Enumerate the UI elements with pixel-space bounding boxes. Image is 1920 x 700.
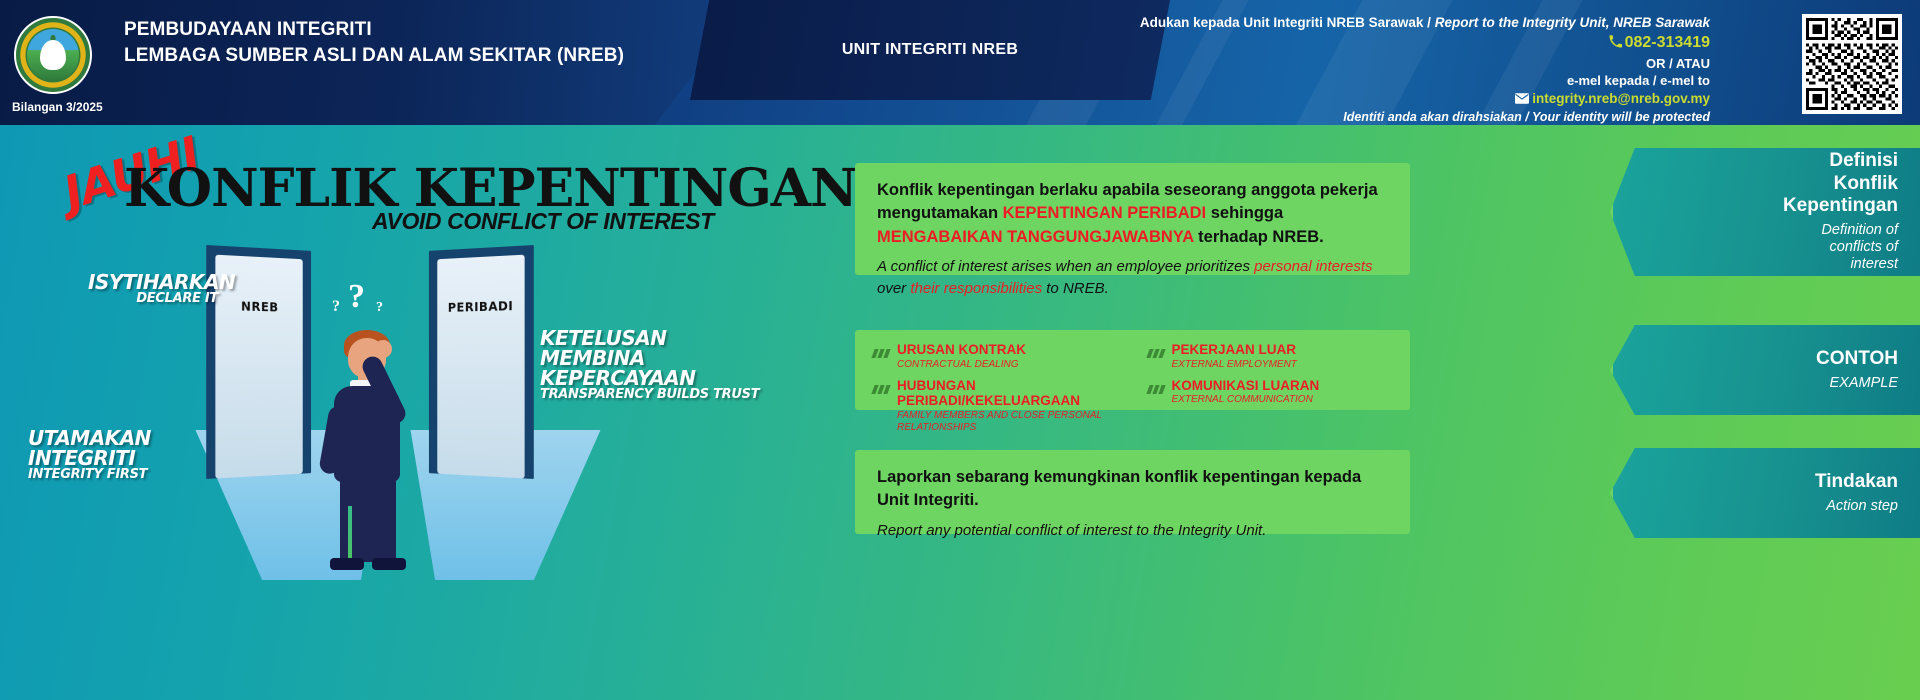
tab-contoh-en: EXAMPLE: [1830, 375, 1899, 392]
definition-en-part2: over: [877, 280, 910, 297]
definition-en-part1: A conflict of interest arises when an em…: [877, 258, 1254, 275]
qr-code[interactable]: [1802, 14, 1902, 114]
nreb-crest-logo: [14, 16, 92, 94]
caption-declare-my: ISYTIHARKAN: [88, 272, 218, 292]
caption-trust: KETELUSAN MEMBINA KEPERCAYAAN TRANSPAREN…: [540, 328, 770, 401]
slash-marks-icon: [1148, 381, 1166, 399]
example-item[interactable]: URUSAN KONTRAK CONTRACTUAL DEALING: [873, 342, 1118, 371]
slash-marks-icon: [873, 345, 891, 363]
example-item[interactable]: KOMUNIKASI LUARAN EXTERNAL COMMUNICATION: [1148, 378, 1393, 407]
contact-block: Adukan kepada Unit Integriti NREB Sarawa…: [990, 14, 1710, 126]
caption-trust-my-line2: KEPERCAYAAN: [540, 368, 770, 388]
tab-definisi-en-line2: conflicts of: [1830, 239, 1899, 256]
action-text-my: Laporkan sebarang kemungkinan konflik ke…: [877, 466, 1388, 513]
header-bar: PEMBUDAYAAN INTEGRITI LEMBAGA SUMBER ASL…: [0, 0, 1920, 145]
contact-or: OR / ATAU: [990, 55, 1710, 73]
definition-en-red1: personal interests: [1254, 258, 1372, 275]
example-1-en: EXTERNAL EMPLOYMENT: [1172, 359, 1297, 371]
door-peribadi: PERIBADI: [429, 245, 534, 479]
slash-marks-icon: [873, 381, 891, 399]
example-3-en: EXTERNAL COMMUNICATION: [1172, 394, 1320, 406]
envelope-icon: [1515, 91, 1529, 109]
panel-examples: URUSAN KONTRAK CONTRACTUAL DEALING HUBUN…: [855, 330, 1410, 410]
example-2-en: FAMILY MEMBERS AND CLOSE PERSONAL RELATI…: [897, 410, 1118, 434]
tab-definisi-en-line1: Definition of: [1821, 222, 1898, 239]
definition-my-red2: MENGABAIKAN TANGGUNGJAWABNYA: [877, 228, 1194, 246]
example-1-my: PEKERJAAN LUAR: [1172, 342, 1297, 358]
tab-definisi-my-line3: Kepentingan: [1783, 195, 1898, 217]
caption-trust-en: TRANSPARENCY BUILDS TRUST: [540, 388, 770, 401]
tab-contoh[interactable]: CONTOH EXAMPLE: [1610, 325, 1920, 415]
definition-my-part2: sehingga: [1206, 204, 1283, 222]
caption-integrity-my: UTAMAKAN INTEGRITI: [28, 428, 248, 468]
examples-column-right: PEKERJAAN LUAR EXTERNAL EMPLOYMENT KOMUN…: [1148, 342, 1393, 441]
example-0-en: CONTRACTUAL DEALING: [897, 359, 1026, 371]
examples-column-left: URUSAN KONTRAK CONTRACTUAL DEALING HUBUN…: [873, 342, 1118, 441]
definition-en-part3: to NREB.: [1042, 280, 1109, 297]
report-line: Adukan kepada Unit Integriti NREB Sarawa…: [990, 14, 1710, 32]
tab-contoh-my: CONTOH: [1816, 348, 1898, 370]
definition-text-my: Konflik kepentingan berlaku apabila sese…: [877, 179, 1388, 249]
tab-definisi[interactable]: Definisi Konflik Kepentingan Definition …: [1610, 148, 1920, 276]
contact-phone-line[interactable]: 082-313419: [990, 32, 1710, 55]
example-item[interactable]: PEKERJAAN LUAR EXTERNAL EMPLOYMENT: [1148, 342, 1393, 371]
report-separator: /: [1427, 15, 1431, 30]
issue-number: Bilangan 3/2025: [12, 100, 103, 114]
header-org-line1: PEMBUDAYAAN INTEGRITI: [124, 17, 624, 43]
poster-root: PEMBUDAYAAN INTEGRITI LEMBAGA SUMBER ASL…: [0, 0, 1920, 700]
tab-definisi-my-line1: Definisi: [1829, 150, 1898, 172]
definition-my-red1: KEPENTINGAN PERIBADI: [1003, 204, 1207, 222]
contact-email-line[interactable]: integrity.nreb@nreb.gov.my: [990, 90, 1710, 109]
example-item[interactable]: HUBUNGAN PERIBADI/KEKELUARGAAN FAMILY ME…: [873, 378, 1118, 434]
definition-en-red2: their responsibilities: [910, 280, 1042, 297]
caption-integrity: UTAMAKAN INTEGRITI INTEGRITY FIRST: [28, 428, 248, 481]
slash-marks-icon: [1148, 345, 1166, 363]
panel-action: Laporkan sebarang kemungkinan konflik ke…: [855, 450, 1410, 534]
report-label-my: Adukan kepada Unit Integriti NREB Sarawa…: [1140, 15, 1424, 30]
door-left-label: NREB: [206, 298, 311, 315]
definition-text-en: A conflict of interest arises when an em…: [877, 256, 1388, 299]
example-2-my: HUBUNGAN PERIBADI/KEKELUARGAAN: [897, 378, 1118, 409]
doors-illustration: NREB PERIBADI ? ? ?: [150, 240, 750, 575]
phone-icon: [1609, 33, 1622, 55]
caption-trust-my-line1: KETELUSAN MEMBINA: [540, 328, 770, 368]
example-0-my: URUSAN KONTRAK: [897, 342, 1026, 358]
privacy-note: Identiti anda akan dirahsiakan / Your id…: [990, 109, 1710, 126]
contact-phone: 082-313419: [1625, 34, 1710, 51]
hero-subtitle: AVOID CONFLICT OF INTEREST: [372, 208, 714, 235]
example-3-my: KOMUNIKASI LUARAN: [1172, 378, 1320, 394]
tab-tindakan-en: Action step: [1826, 498, 1898, 515]
panel-definition: Konflik kepentingan berlaku apabila sese…: [855, 163, 1410, 275]
action-text-en: Report any potential conflict of interes…: [877, 520, 1388, 541]
definition-my-part3: terhadap NREB.: [1194, 228, 1324, 246]
tab-definisi-my-line2: Konflik: [1834, 173, 1898, 195]
report-label-en: Report to the Integrity Unit, NREB Saraw…: [1435, 15, 1710, 30]
tab-tindakan[interactable]: Tindakan Action step: [1610, 448, 1920, 538]
caption-integrity-en: INTEGRITY FIRST: [28, 468, 248, 481]
header-org-line2: LEMBAGA SUMBER ASLI DAN ALAM SEKITAR (NR…: [124, 43, 624, 69]
header-org-title: PEMBUDAYAAN INTEGRITI LEMBAGA SUMBER ASL…: [124, 17, 624, 68]
door-right-label: PERIBADI: [429, 298, 534, 315]
caption-declare: ISYTIHARKAN DECLARE IT: [88, 272, 218, 305]
confused-man-icon: [322, 310, 414, 570]
contact-email-label: e-mel kepada / e-mel to: [990, 72, 1710, 90]
tab-tindakan-my: Tindakan: [1815, 471, 1898, 493]
contact-email: integrity.nreb@nreb.gov.my: [1532, 91, 1710, 106]
tab-definisi-en-line3: interest: [1850, 256, 1898, 273]
